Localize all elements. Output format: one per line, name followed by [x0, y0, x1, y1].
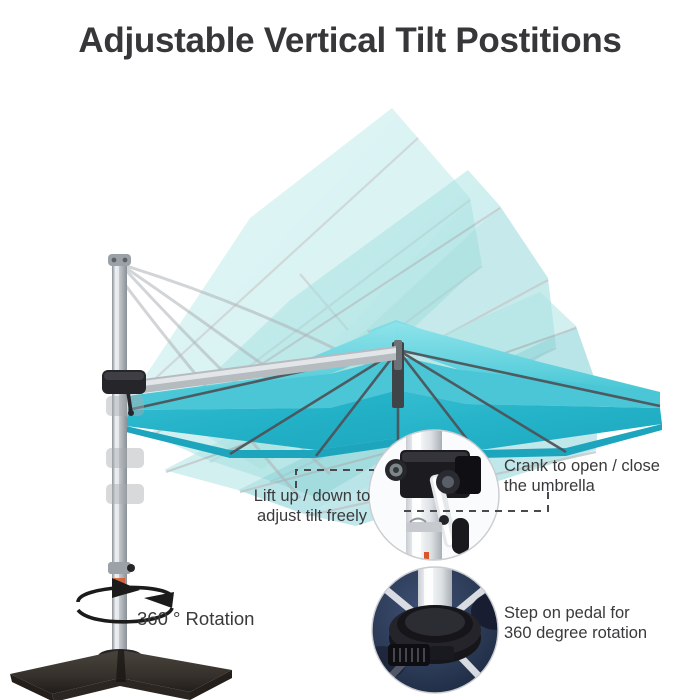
ghost-tilt-hubs: [106, 396, 144, 504]
cross-base: [10, 649, 232, 700]
rotation-arrow-head-right: [144, 592, 174, 608]
annotation-rotation: 360 ° Rotation: [137, 609, 297, 629]
vertical-pole: [102, 254, 146, 660]
pedal-detail-circle: [358, 566, 523, 693]
annotation-crank: Crank to open / close the umbrella: [504, 456, 694, 496]
infographic-canvas: Adjustable Vertical Tilt Postitions: [0, 0, 700, 700]
annotation-lift-tilt: Lift up / down to adjust tilt freely: [222, 486, 402, 526]
annotation-pedal: Step on pedal for 360 degree rotation: [504, 603, 694, 643]
page-title: Adjustable Vertical Tilt Postitions: [0, 18, 700, 64]
